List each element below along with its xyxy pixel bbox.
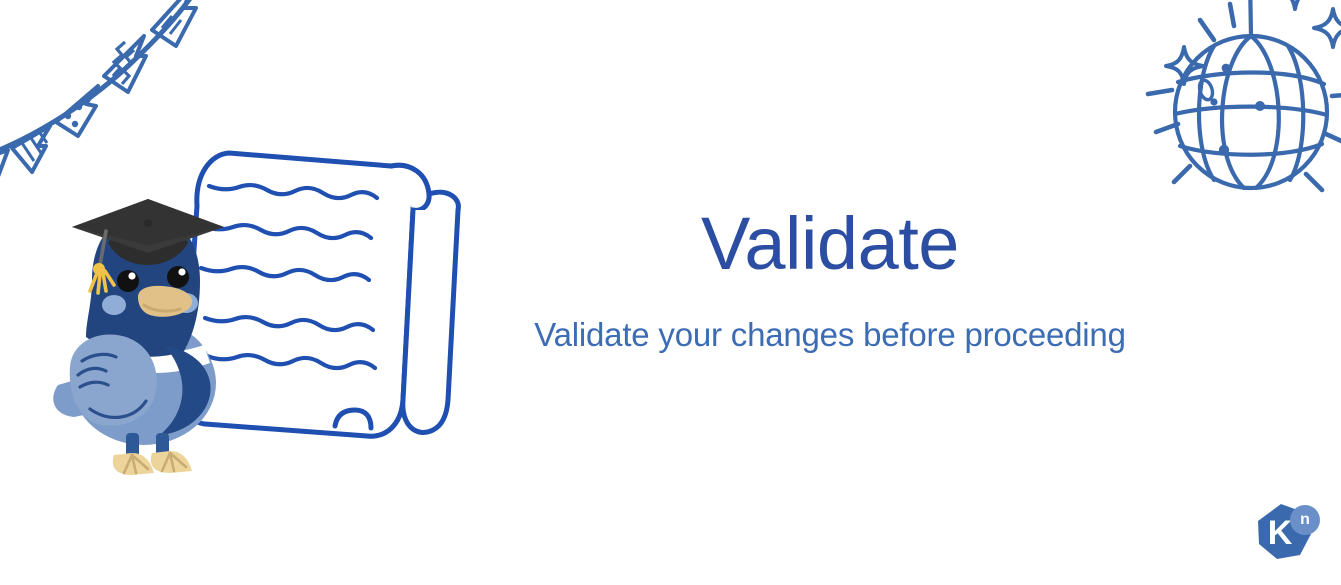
graduate-bird-mascot [52,185,242,475]
page-title: Validate [470,205,1190,283]
party-bunting-decoration [0,0,226,180]
page-subtitle: Validate your changes before proceeding [470,315,1190,355]
certificate-scroll-decoration [175,138,475,453]
disco-ball-decoration [1118,0,1341,224]
brand-logo: K n [1252,503,1324,569]
slide-canvas: Validate Validate your changes before pr… [0,0,1341,585]
brand-logo-badge: n [1290,505,1320,535]
headline-block: Validate Validate your changes before pr… [470,205,1190,355]
